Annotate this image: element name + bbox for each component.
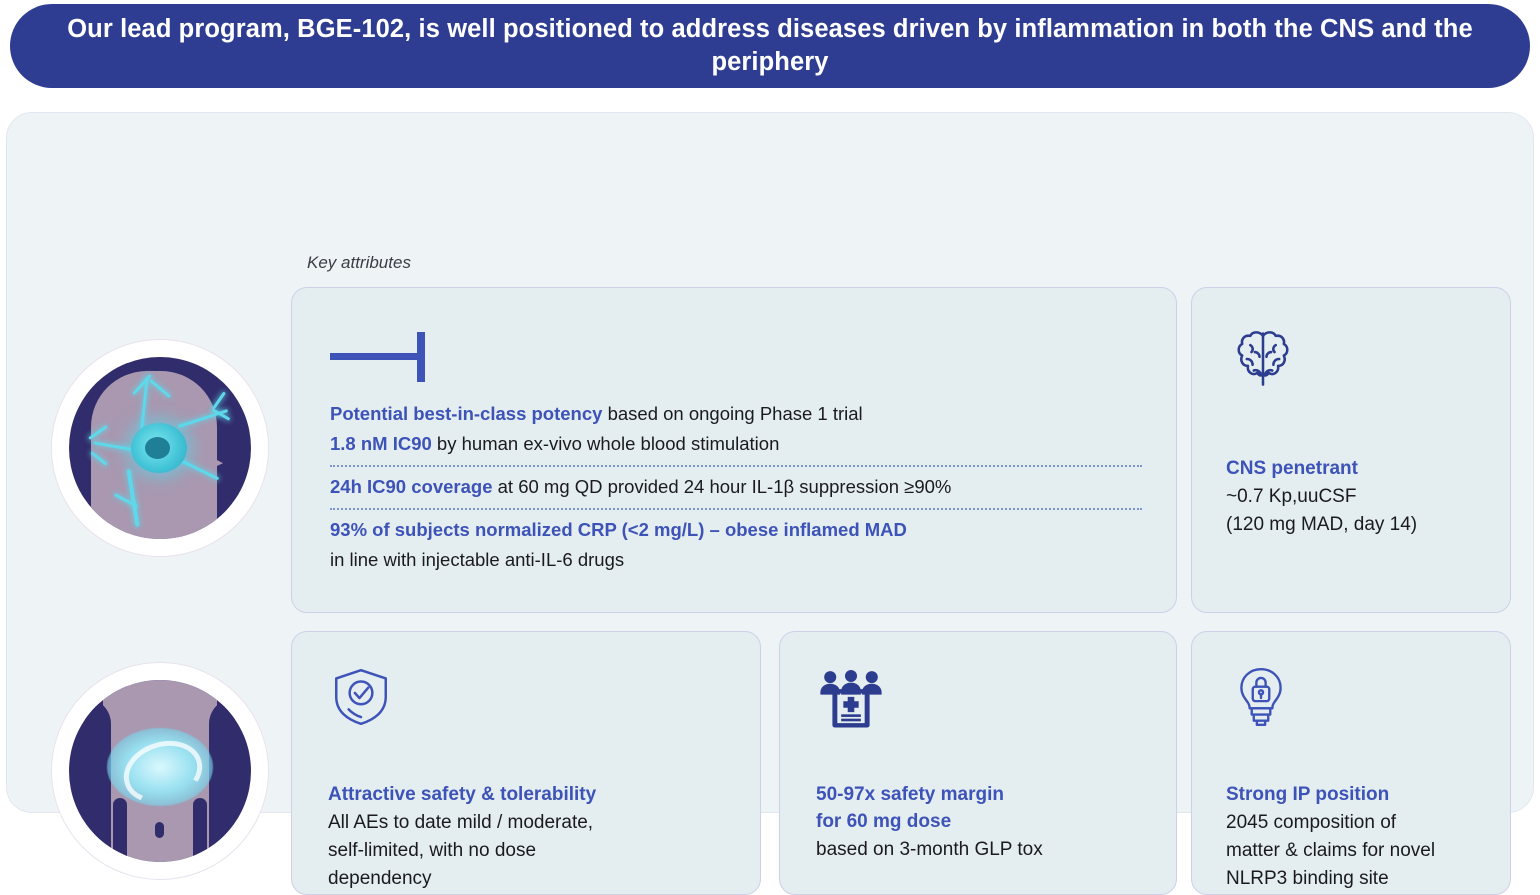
safety-body-line: dependency	[328, 865, 742, 893]
card-safety-tolerability: Attractive safety & tolerability All AEs…	[291, 631, 761, 895]
margin-title-line: for 60 mg dose	[816, 809, 1158, 836]
margin-body-line: based on 3-month GLP tox	[816, 836, 1158, 864]
head-neck	[139, 507, 201, 539]
potency-row: 93% of subjects normalized CRP (<2 mg/L)…	[330, 508, 1142, 581]
ip-body-line: 2045 composition of	[1226, 809, 1494, 837]
ip-body-line: matter & claims for novel	[1226, 837, 1494, 865]
potency-line-rest: in line with injectable anti-IL-6 drugs	[330, 549, 624, 570]
potency-line: in line with injectable anti-IL-6 drugs	[330, 545, 1142, 575]
potency-rows: Potential best-in-class potency based on…	[330, 394, 1142, 581]
torso-image	[69, 680, 251, 862]
cns-text: CNS penetrant ~0.7 Kp,uuCSF (120 mg MAD,…	[1226, 456, 1494, 539]
ip-text: Strong IP position 2045 composition of m…	[1226, 782, 1494, 893]
card-potency: Potential best-in-class potency based on…	[291, 287, 1177, 613]
torso-inflammation-illustration	[51, 662, 269, 880]
torso-leg-gap-left	[113, 798, 127, 862]
ip-body-line: NLRP3 binding site	[1226, 865, 1494, 893]
potency-line-bold: Potential best-in-class potency	[330, 403, 602, 424]
safety-body-line: All AEs to date mild / moderate,	[328, 809, 742, 837]
ip-title: Strong IP position	[1226, 782, 1494, 809]
potency-line-rest: by human ex-vivo whole blood stimulation	[432, 433, 780, 454]
neuron-nucleus	[145, 437, 170, 459]
torso-navel	[155, 822, 164, 838]
section-label: Key attributes	[307, 253, 411, 273]
lightbulb-lock-icon	[1228, 664, 1294, 735]
slide: Our lead program, BGE-102, is well posit…	[0, 0, 1540, 819]
potency-line-bold: 93% of subjects normalized CRP (<2 mg/L)…	[330, 519, 907, 540]
potency-row: 24h IC90 coverage at 60 mg QD provided 2…	[330, 465, 1142, 508]
head-neuron-image	[69, 357, 251, 539]
safety-text: Attractive safety & tolerability All AEs…	[328, 782, 742, 893]
cns-title: CNS penetrant	[1226, 456, 1494, 483]
potency-line-rest: based on ongoing Phase 1 trial	[602, 403, 862, 424]
potency-line: 1.8 nM IC90 by human ex-vivo whole blood…	[330, 429, 1142, 459]
torso-leg-gap-right	[193, 798, 207, 862]
content-panel: Key attributes	[6, 112, 1534, 813]
potency-line: Potential best-in-class potency based on…	[330, 399, 1142, 429]
neuron-dendrite	[212, 391, 226, 409]
margin-title-line: 50-97x safety margin	[816, 782, 1158, 809]
page-title: Our lead program, BGE-102, is well posit…	[10, 13, 1530, 78]
potency-line: 24h IC90 coverage at 60 mg QD provided 2…	[330, 472, 1142, 502]
head-neuron-illustration	[51, 339, 269, 557]
safety-body-line: self-limited, with no dose	[328, 837, 742, 865]
potency-row: Potential best-in-class potency based on…	[330, 394, 1142, 465]
torso-background-right	[209, 698, 235, 848]
measurement-bar-icon	[330, 330, 434, 389]
clipboard-people-icon	[816, 664, 886, 739]
card-cns-penetrant: CNS penetrant ~0.7 Kp,uuCSF (120 mg MAD,…	[1191, 287, 1511, 613]
potency-line-rest: at 60 mg QD provided 24 hour IL-1β suppr…	[492, 476, 951, 497]
safety-title: Attractive safety & tolerability	[328, 782, 742, 809]
potency-line: 93% of subjects normalized CRP (<2 mg/L)…	[330, 515, 1142, 545]
slide-title-banner: Our lead program, BGE-102, is well posit…	[10, 4, 1530, 88]
card-ip-position: Strong IP position 2045 composition of m…	[1191, 631, 1511, 895]
margin-text: 50-97x safety margin for 60 mg dose base…	[816, 782, 1158, 864]
brain-icon	[1226, 322, 1300, 401]
cns-body-line: ~0.7 Kp,uuCSF	[1226, 483, 1494, 511]
potency-line-bold: 24h IC90 coverage	[330, 476, 492, 497]
potency-line-bold: 1.8 nM IC90	[330, 433, 432, 454]
cns-body-line: (120 mg MAD, day 14)	[1226, 511, 1494, 539]
card-safety-margin: 50-97x safety margin for 60 mg dose base…	[779, 631, 1177, 895]
shield-check-icon	[328, 664, 394, 735]
